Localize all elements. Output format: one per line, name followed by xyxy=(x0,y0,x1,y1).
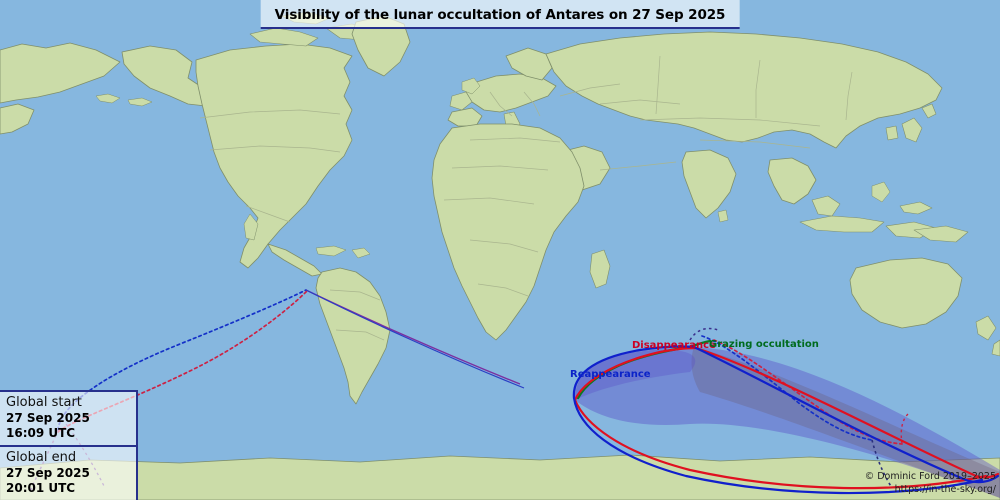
label-grazing-occultation: Grazing occultation xyxy=(709,339,819,350)
copyright-text: © Dominic Ford 2019–2025 xyxy=(865,471,996,484)
world-map xyxy=(0,0,1000,500)
global-end-value: 27 Sep 2025 20:01 UTC xyxy=(6,466,130,496)
label-disappearance: Disappearance xyxy=(632,340,716,351)
page-title: Visibility of the lunar occultation of A… xyxy=(261,0,740,29)
legend-item-global-start: Global start 27 Sep 2025 16:09 UTC xyxy=(0,390,138,445)
page-title-text: Visibility of the lunar occultation of A… xyxy=(275,7,726,23)
global-start-value: 27 Sep 2025 16:09 UTC xyxy=(6,411,130,441)
legend: Global start 27 Sep 2025 16:09 UTC Globa… xyxy=(0,390,138,500)
legend-item-global-end: Global end 27 Sep 2025 20:01 UTC xyxy=(0,445,138,500)
credit: © Dominic Ford 2019–2025 https://in-the-… xyxy=(865,471,996,497)
occultation-map-figure: Disappearance Grazing occultation Reappe… xyxy=(0,0,1000,500)
source-url[interactable]: https://in-the-sky.org/ xyxy=(865,484,996,497)
global-start-label: Global start xyxy=(6,395,130,411)
label-reappearance: Reappearance xyxy=(570,369,651,380)
global-end-label: Global end xyxy=(6,450,130,466)
